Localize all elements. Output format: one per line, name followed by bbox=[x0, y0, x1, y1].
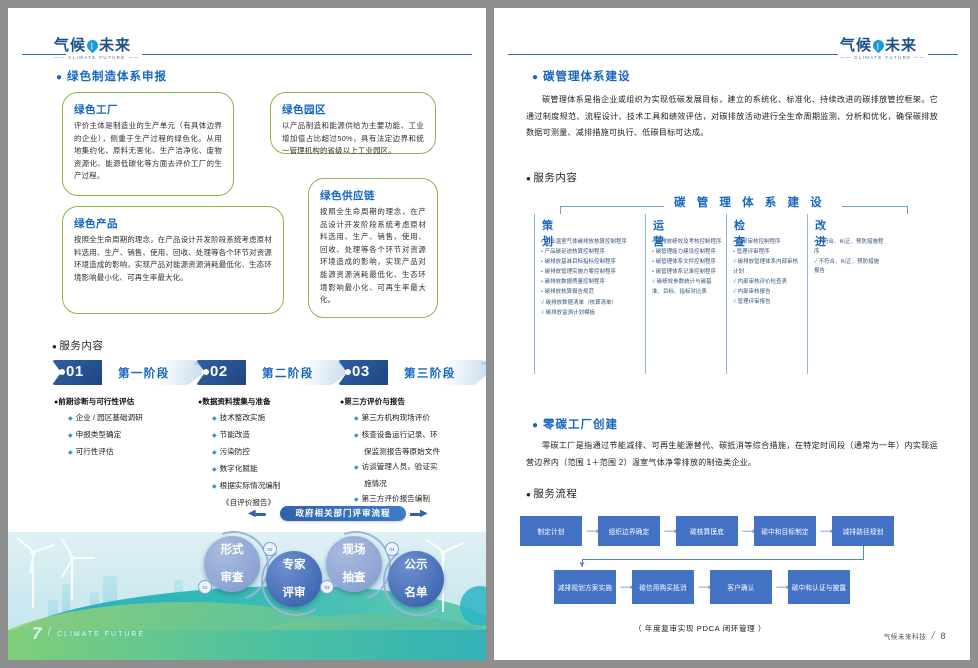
list-item: 碳排放管理体系内部审核计划 bbox=[733, 259, 798, 275]
right-service-content-label: ●服务内容 bbox=[526, 170, 577, 185]
card-title: 绿色工厂 bbox=[74, 102, 222, 117]
brochure-spread: 气候未来 —— CLIMATE FUTURE —— ●绿色制造体系申报 绿色工厂… bbox=[0, 0, 978, 668]
bullet-dot-icon: ● bbox=[52, 342, 57, 351]
phase-card-01: 01 第一阶段 01 ●前期诊断与可行性评估 ◆企业 / 园区基础调研 ◆申报类… bbox=[52, 360, 192, 461]
list-item: 不符合、纠正、预防措施报告 bbox=[814, 259, 879, 275]
card-green-product: 绿色产品 按照全生命周期的理念，在产品设计开发阶段系统考虑原材料选用、生产、销售… bbox=[62, 206, 284, 314]
list-item: 碳管理体系文件控制程序 bbox=[656, 259, 716, 265]
card-body: 评价主体是制造业的生产单元（有具体边界的企业），侧重于生产过程的绿色化。从用地集… bbox=[74, 120, 222, 183]
flow-box: 组织边界确定 bbox=[598, 516, 660, 546]
left-page: 气候未来 —— CLIMATE FUTURE —— ●绿色制造体系申报 绿色工厂… bbox=[8, 8, 486, 660]
list-item: 碳排放数据清单（核算清单） bbox=[546, 300, 617, 306]
cms-diagram-title: 碳 管 理 体 系 建 设 bbox=[674, 194, 826, 210]
review-step-4-number: 04 bbox=[385, 542, 399, 556]
review-step-3: 现场抽查 bbox=[326, 536, 382, 592]
logo-climate-future: 气候未来 —— CLIMATE FUTURE —— bbox=[840, 38, 926, 64]
list-item: 核查设备运行记录、环 bbox=[362, 430, 438, 439]
list-item: 碳管理能力建设控制程序 bbox=[656, 249, 716, 255]
arrow-left-icon: ◀▬ bbox=[248, 508, 266, 519]
list-item: 内部审核评价检查表 bbox=[738, 279, 787, 285]
list-item: 碳管理体系记录控制程序 bbox=[656, 269, 716, 275]
left-page-footer: 7 / CLIMATE FUTURE bbox=[32, 624, 145, 644]
list-item: 企业温室气体碳排放核算控制程序 bbox=[545, 239, 627, 245]
right-page: 气候未来 —— CLIMATE FUTURE —— ●碳管理体系建设 碳管理体系… bbox=[494, 8, 970, 660]
phase-number: 02 bbox=[210, 363, 228, 380]
logo-text-en: —— CLIMATE FUTURE —— bbox=[54, 55, 140, 60]
cms-items-improve: ▪ 不符合、纠正、预防措施程序 √ 不符合、纠正、预防措施报告 bbox=[814, 238, 884, 277]
phase-card-03: 03 第三阶段 03 ●第三方评价与报告 ◆第三方机构现场评价 ◆核查设备运行记… bbox=[338, 360, 480, 508]
flowchart-note: （ 年度复审实现 PDCA 闭环管理 ） bbox=[634, 623, 766, 634]
wind-turbine-icon bbox=[60, 556, 84, 600]
footer-brand-text: CLIMATE FUTURE bbox=[57, 631, 145, 638]
card-green-supply-chain: 绿色供应链 按照全生命周期的理念，在产品设计开发阶段系统考虑原材料选用、生产、销… bbox=[308, 178, 438, 318]
review-step-3-number: 03 bbox=[320, 580, 334, 594]
list-item: 碳排放基准目标指标控制程序 bbox=[545, 259, 616, 265]
left-section-title: ●绿色制造体系申报 bbox=[56, 68, 167, 84]
flow-box: 碳中和目标制定 bbox=[754, 516, 816, 546]
list-item: 管理评审报告 bbox=[738, 299, 771, 305]
list-item: 企业 / 园区基础调研 bbox=[76, 413, 143, 422]
logo-text-cn-a: 气候 bbox=[54, 37, 86, 54]
bullet-dot-icon: ● bbox=[532, 420, 539, 431]
leaf-icon bbox=[85, 38, 101, 54]
list-item: 节能改造 bbox=[220, 430, 250, 439]
page-gutter bbox=[486, 0, 494, 668]
list-item-continuation: 保监测报告等原始文件 bbox=[364, 444, 480, 459]
bullet-dot-icon: ● bbox=[526, 174, 531, 183]
card-green-park: 绿色园区 以产品制造和能源供给为主要功能、工业增加值占比超过50%，具有法定边界… bbox=[270, 92, 436, 154]
footer-brand-text: 气候未来科技 bbox=[884, 634, 927, 641]
flow-box: 碳中和认证与披露 bbox=[788, 570, 850, 604]
card-green-factory: 绿色工厂 评价主体是制造业的生产单元（有具体边界的企业），侧重于生产过程的绿色化… bbox=[62, 92, 234, 196]
card-body: 以产品制造和能源供给为主要功能、工业增加值占比超过50%，具有法定边界和统一管理… bbox=[282, 120, 424, 158]
list-item: 碳排放核算报告规范 bbox=[545, 289, 594, 295]
list-item: 污染防控 bbox=[220, 447, 250, 456]
list-item: 碳排放监测计划模板 bbox=[546, 310, 595, 316]
list-item: 碳排放管理实施方案控制程序 bbox=[545, 269, 616, 275]
list-item: 内部审核控制程序 bbox=[737, 239, 781, 245]
list-item: 碳绩效参数统计与碳基准、目标、指标对比表 bbox=[652, 279, 712, 295]
logo-text-cn-b: 未来 bbox=[885, 37, 917, 54]
phase-lead: 第三方评价与报告 bbox=[344, 397, 405, 406]
flow-box: 客户确认 bbox=[710, 570, 772, 604]
page-number: 7 bbox=[32, 624, 43, 643]
right-paragraph-2: 零碳工厂是指通过节能减排、可再生能源替代、碳抵消等综合措施，在特定时间段（通常为… bbox=[526, 438, 938, 471]
list-item: 碳排放数据质量控制程序 bbox=[545, 279, 605, 285]
flow-box: 减排规划方案实施 bbox=[554, 570, 616, 604]
phase-item-list: ●前期诊断与可行性评估 ◆企业 / 园区基础调研 ◆申报类型确定 ◆可行性评估 bbox=[52, 394, 192, 461]
right-paragraph-1: 碳管理体系是指企业或组织为实现低碳发展目标，建立的系统化、标准化、持续改进的碳排… bbox=[526, 92, 938, 142]
review-step-1: 形式审查 bbox=[204, 536, 260, 592]
review-step-4: 公示名单 bbox=[388, 551, 444, 607]
list-item: 可行性评估 bbox=[76, 447, 114, 456]
logo-text-en: —— CLIMATE FUTURE —— bbox=[840, 55, 926, 60]
bullet-dot-icon: ● bbox=[526, 490, 531, 499]
government-review-pill: 政府相关部门评审流程 bbox=[280, 506, 406, 521]
phase-lead: 前期诊断与可行性评估 bbox=[58, 397, 134, 406]
cms-items-check: ▪ 内部审核控制程序 ▪ 管理评审程序 √ 碳排放管理体系内部审核计划 √ 内部… bbox=[733, 238, 803, 308]
review-step-1-number: 01 bbox=[198, 580, 212, 594]
flow-box: 制定计划 bbox=[520, 516, 582, 546]
phase-item-list: ●第三方评价与报告 ◆第三方机构现场评价 ◆核查设备运行记录、环 保监测报告等原… bbox=[338, 394, 480, 508]
wind-turbine-icon bbox=[18, 550, 48, 608]
list-item: 数字化赋能 bbox=[220, 464, 258, 473]
phase-lead: 数据资料搜集与准备 bbox=[202, 397, 270, 406]
phase-tag: 01 第一阶段 01 bbox=[52, 360, 202, 385]
logo-text-cn-a: 气候 bbox=[840, 37, 872, 54]
phase-corner-number: 03 bbox=[481, 361, 486, 366]
cms-items-planning: ▪ 企业温室气体碳排放核算控制程序 ▪ 产品碳足迹核算控制程序 ▪ 碳排放基准目… bbox=[541, 238, 643, 319]
logo-text-cn-b: 未来 bbox=[99, 37, 131, 54]
phase-number: 03 bbox=[352, 363, 370, 380]
bullet-dot-icon: ● bbox=[532, 72, 539, 83]
leaf-icon bbox=[871, 38, 887, 54]
phase-item-list: ●数据资料搜集与准备 ◆技术整改实施 ◆节能改造 ◆污染防控 ◆数字化赋能 ◆根… bbox=[196, 394, 336, 510]
list-item-continuation: 施情况 bbox=[364, 476, 480, 491]
page-number: 8 bbox=[940, 631, 946, 641]
list-item: 第三方评价报告编制 bbox=[362, 494, 430, 503]
phase-label: 第二阶段 bbox=[262, 365, 314, 381]
list-item: 管理评审程序 bbox=[737, 249, 770, 255]
logo-climate-future: 气候未来 —— CLIMATE FUTURE —— bbox=[54, 38, 140, 64]
list-item: 申报类型确定 bbox=[76, 430, 122, 439]
right-page-header: 气候未来 —— CLIMATE FUTURE —— bbox=[494, 38, 970, 64]
phase-label: 第三阶段 bbox=[404, 365, 456, 381]
flow-box: 碳核算摸底 bbox=[676, 516, 738, 546]
flow-box: 碳信用购买抵消 bbox=[632, 570, 694, 604]
right-page-footer: 气候未来科技 / 8 bbox=[884, 630, 946, 642]
right-section-title-1: ●碳管理体系建设 bbox=[532, 68, 631, 84]
list-item: 第三方机构现场评价 bbox=[362, 413, 430, 422]
card-title: 绿色园区 bbox=[282, 102, 424, 117]
list-item: 根据实际情况编制 bbox=[220, 481, 281, 490]
card-body: 按照全生命周期的理念，在产品设计开发阶段系统考虑原材料选用、生产、销售、使用、回… bbox=[320, 206, 426, 307]
card-title: 绿色产品 bbox=[74, 216, 272, 231]
review-step-2: 专家评审 bbox=[266, 551, 322, 607]
flow-box: 减排路径规划 bbox=[832, 516, 894, 546]
list-item: 碳排放绩效及考核控制程序 bbox=[656, 239, 722, 245]
cms-items-operation: ▪ 碳排放绩效及考核控制程序 ▪ 碳管理能力建设控制程序 ▪ 碳管理体系文件控制… bbox=[652, 238, 722, 298]
phase-tag: 03 第三阶段 03 bbox=[338, 360, 486, 385]
phase-tag: 02 第二阶段 02 bbox=[196, 360, 346, 385]
arrow-right-icon: ▬▶ bbox=[410, 508, 428, 519]
right-section-title-2: ●零碳工厂创建 bbox=[532, 416, 618, 432]
list-item: 访谈管理人员，验证实 bbox=[362, 462, 438, 471]
service-flow-label: ●服务流程 bbox=[526, 486, 577, 501]
card-body: 按照全生命周期的理念，在产品设计开发阶段系统考虑原材料选用、生产、销售、使用、回… bbox=[74, 234, 272, 284]
left-service-content-label: ●服务内容 bbox=[52, 338, 103, 353]
list-item: 产品碳足迹核算控制程序 bbox=[545, 249, 605, 255]
list-item: 内部审核报告 bbox=[738, 289, 771, 295]
phase-label: 第一阶段 bbox=[118, 365, 170, 381]
review-step-2-number: 02 bbox=[263, 542, 277, 556]
bullet-dot-icon: ● bbox=[56, 72, 63, 83]
list-item: 技术整改实施 bbox=[220, 413, 266, 422]
phase-number: 01 bbox=[66, 363, 84, 380]
left-page-header: 气候未来 —— CLIMATE FUTURE —— bbox=[8, 38, 486, 64]
card-title: 绿色供应链 bbox=[320, 188, 426, 203]
list-item: 不符合、纠正、预防措施程序 bbox=[814, 239, 884, 255]
phase-card-02: 02 第二阶段 02 ●数据资料搜集与准备 ◆技术整改实施 ◆节能改造 ◆污染防… bbox=[196, 360, 336, 510]
